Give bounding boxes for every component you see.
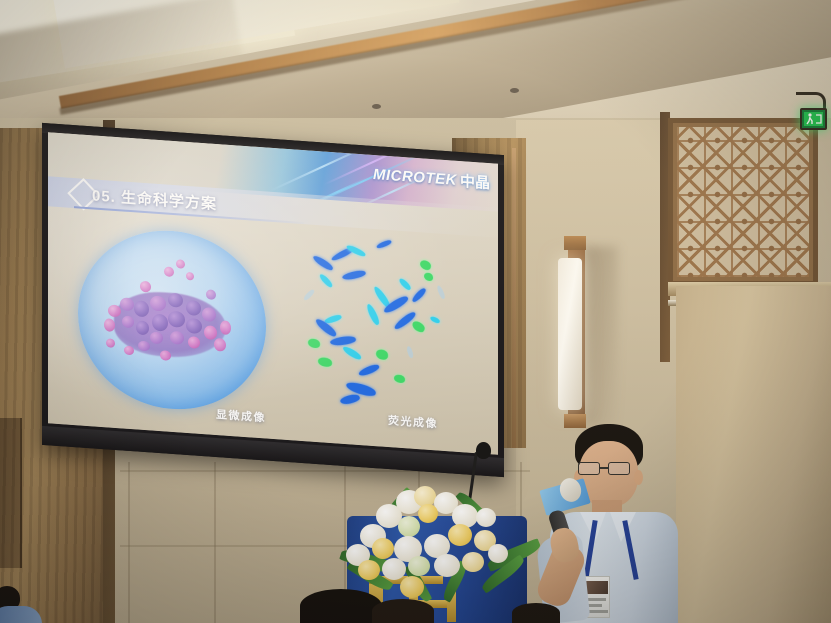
flower	[462, 552, 484, 572]
cell	[202, 307, 216, 322]
cell	[186, 272, 194, 281]
fluorescent-object	[312, 254, 335, 272]
cell	[120, 297, 134, 311]
cell	[206, 289, 216, 300]
presenter	[524, 424, 694, 623]
fluorescent-object	[365, 303, 382, 326]
fluorescent-object	[411, 320, 427, 334]
flower	[488, 544, 508, 563]
fluorescent-object	[411, 287, 427, 304]
microscope-field	[78, 224, 266, 415]
cell	[104, 318, 115, 332]
fluorescent-object	[342, 269, 367, 282]
cell	[188, 336, 200, 349]
cell	[220, 320, 231, 335]
caption-fluorescence: 荧光成像	[388, 412, 438, 431]
fluorescent-object	[398, 277, 413, 291]
fluorescent-object	[376, 239, 392, 250]
conference-room-photo: MICROTEK 中晶 05. 生命科学方案	[0, 0, 831, 623]
fluorescent-object	[358, 363, 381, 378]
glasses-bridge	[600, 467, 608, 469]
cell	[122, 315, 134, 328]
fluorescent-object	[436, 285, 447, 300]
gooseneck-microphone-head	[476, 442, 491, 459]
cell	[134, 300, 149, 317]
screen-surface: MICROTEK 中晶 05. 生命科学方案	[48, 132, 498, 454]
projection-screen: MICROTEK 中晶 05. 生命科学方案	[42, 123, 504, 477]
microtek-logo: MICROTEK 中晶	[373, 164, 490, 193]
wood-inset	[0, 418, 22, 568]
wall-sconce-cap-top	[564, 236, 586, 250]
fluorescent-object	[341, 345, 362, 361]
fluorescent-object	[303, 288, 316, 302]
exit-sign	[800, 108, 827, 130]
fluorescent-object	[376, 349, 388, 360]
audience-shoulder	[0, 606, 42, 623]
lattice-dots	[677, 127, 809, 277]
ceiling-downlight	[510, 88, 519, 93]
door-right[interactable]	[676, 286, 831, 623]
cell	[186, 300, 201, 316]
fluorescent-object	[424, 273, 433, 282]
presentation-slide: MICROTEK 中晶 05. 生命科学方案	[48, 132, 498, 454]
cell	[106, 338, 115, 348]
flower	[434, 554, 460, 577]
cell	[160, 350, 171, 361]
fluorescent-object	[318, 273, 334, 289]
ceiling-downlight	[372, 104, 381, 109]
audience-silhouette	[512, 603, 560, 623]
logo-latin: MICROTEK	[373, 166, 457, 189]
flower	[476, 508, 496, 527]
cell	[108, 304, 121, 317]
wall-seam	[214, 462, 216, 623]
cell	[150, 295, 166, 311]
logo-cjk: 中晶	[460, 170, 490, 193]
cell	[204, 325, 217, 340]
running-man-icon	[804, 112, 823, 126]
cell-cluster-core	[114, 289, 226, 361]
audience-silhouette	[372, 599, 434, 623]
flower	[400, 576, 424, 598]
caption-microscopy: 显微成像	[216, 406, 266, 425]
cell	[168, 311, 185, 328]
cell	[136, 320, 149, 335]
cell	[186, 318, 202, 334]
cell	[150, 331, 163, 344]
cell	[138, 341, 150, 352]
cell	[168, 293, 183, 308]
fluorescent-object	[318, 357, 332, 367]
cell	[124, 346, 134, 356]
fluorescent-object	[308, 338, 320, 348]
audience-silhouette	[300, 589, 382, 623]
sconce-shadow	[584, 246, 618, 426]
cell	[176, 259, 185, 269]
glasses-lens	[608, 462, 630, 475]
flower	[448, 524, 472, 546]
wall-seam	[128, 462, 130, 623]
fluorescent-object	[406, 346, 415, 359]
fluorescent-object	[429, 316, 440, 324]
glasses-lens	[578, 462, 600, 475]
fluorescent-object	[419, 259, 432, 271]
wall-sconce-light	[558, 258, 582, 410]
glasses-icon	[578, 462, 640, 475]
flower	[372, 538, 394, 559]
fluorescence-image	[284, 221, 489, 435]
audience-member-left	[0, 586, 42, 623]
flower	[408, 556, 430, 576]
decorative-lattice-panel	[668, 118, 818, 286]
microscopy-image	[70, 220, 275, 419]
cell	[164, 266, 174, 277]
cell	[140, 281, 151, 293]
fluorescent-object	[339, 393, 361, 406]
copper-trim-strip	[512, 148, 516, 448]
flower-arrangement	[338, 482, 543, 600]
fluorescent-object	[394, 374, 405, 383]
cell	[214, 338, 226, 352]
flower	[382, 558, 406, 580]
lattice-pattern	[677, 127, 809, 277]
flower	[418, 504, 438, 523]
flower	[358, 560, 380, 580]
cell	[152, 314, 168, 332]
flower	[398, 516, 420, 537]
cell	[170, 331, 184, 345]
